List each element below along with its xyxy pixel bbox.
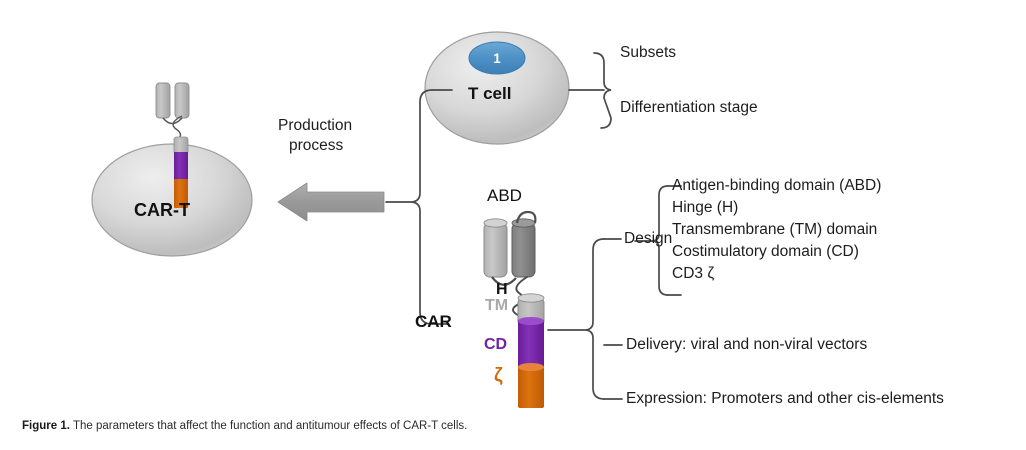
badge-label-3: 3 — [305, 100, 345, 115]
design-item-cd3z: CD3 ζ — [672, 263, 881, 285]
t-cell-label: T cell — [468, 85, 511, 103]
abd-label: ABD — [487, 186, 522, 206]
design-item-abd: Antigen-binding domain (ABD) — [672, 175, 881, 197]
cd-segment — [518, 317, 544, 368]
car-branch-expression: Expression: Promoters and other cis-elem… — [626, 391, 944, 407]
design-item-hinge: Hinge (H) — [672, 197, 881, 219]
car-label: CAR — [415, 312, 452, 332]
car-branch-delivery: Delivery: viral and non-viral vectors — [626, 337, 867, 353]
badge-label-2: 2 — [416, 293, 456, 308]
design-items-list: Antigen-binding domain (ABD) Hinge (H) T… — [672, 175, 881, 285]
car-t-cell-node[interactable] — [92, 83, 252, 256]
zeta-segment — [518, 363, 544, 408]
tcell-branch-subsets: Subsets — [620, 45, 676, 61]
tcell-branch-differentiation: Differentiation stage — [620, 100, 758, 116]
connector-car-brace — [548, 239, 622, 399]
design-item-tm: Transmembrane (TM) domain — [672, 219, 881, 241]
design-item-cd: Costimulatory domain (CD) — [672, 241, 881, 263]
abd-cylinders — [484, 212, 535, 277]
car-t-label: CAR-T — [134, 201, 190, 220]
production-arrow — [278, 183, 384, 221]
badge-label-1: 1 — [477, 51, 517, 66]
car-branch-design: Design — [624, 231, 672, 247]
zeta-label: ζ — [494, 365, 503, 387]
production-line-1: Production — [278, 118, 352, 134]
connector-left-brace — [386, 90, 452, 324]
tm-label: TM — [485, 297, 508, 315]
caption-text: The parameters that affect the function … — [73, 420, 467, 432]
caption-label: Figure 1. — [22, 420, 70, 432]
figure-container: 1 T cell Subsets Differentiation stage 3… — [0, 0, 1026, 450]
figure-caption: Figure 1. The parameters that affect the… — [22, 420, 467, 432]
cd-label: CD — [484, 336, 507, 354]
connector-tcell-brace — [569, 53, 611, 128]
production-line-2: process — [289, 138, 343, 154]
